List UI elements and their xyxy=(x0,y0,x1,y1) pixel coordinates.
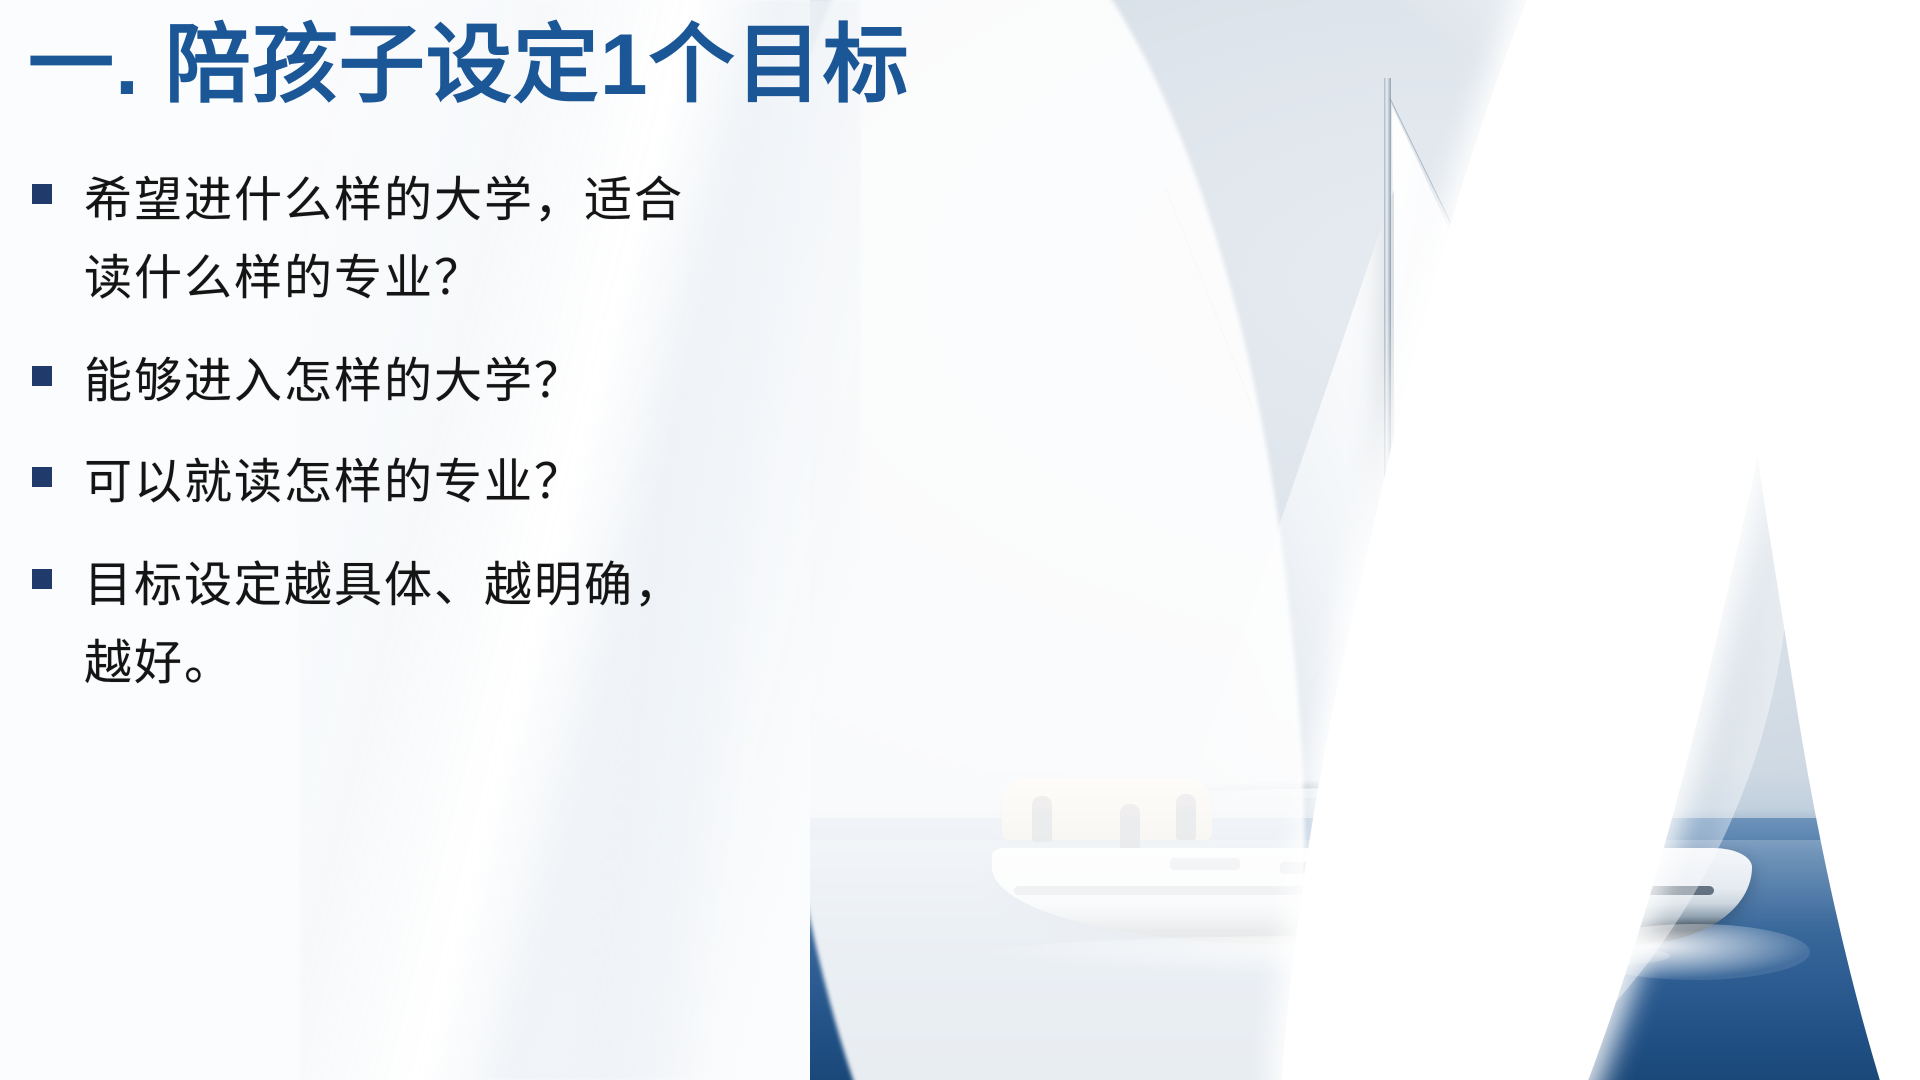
slide-title: 一. 陪孩子设定1个目标 xyxy=(28,22,910,110)
sailboat-photo xyxy=(810,0,1920,1080)
bullet-text: 能够进入怎样的大学？ xyxy=(84,344,584,420)
bullet-text: 希望进什么样的大学，适合 读什么样的专业？ xyxy=(84,162,684,318)
bullet-list: 希望进什么样的大学，适合 读什么样的专业？ 能够进入怎样的大学？ 可以就读怎样的… xyxy=(22,162,902,729)
bullet-text: 可以就读怎样的专业？ xyxy=(84,445,584,521)
list-item: 能够进入怎样的大学？ xyxy=(22,344,902,420)
square-bullet-icon xyxy=(32,184,52,204)
presentation-slide: 一. 陪孩子设定1个目标 希望进什么样的大学，适合 读什么样的专业？ 能够进入怎… xyxy=(0,0,1920,1080)
square-bullet-icon xyxy=(32,569,52,589)
list-item: 可以就读怎样的专业？ xyxy=(22,445,902,521)
list-item: 希望进什么样的大学，适合 读什么样的专业？ xyxy=(22,162,902,318)
bullet-text: 目标设定越具体、越明确， 越好。 xyxy=(84,547,684,703)
list-item: 目标设定越具体、越明确， 越好。 xyxy=(22,547,902,703)
square-bullet-icon xyxy=(32,366,52,386)
square-bullet-icon xyxy=(32,467,52,487)
